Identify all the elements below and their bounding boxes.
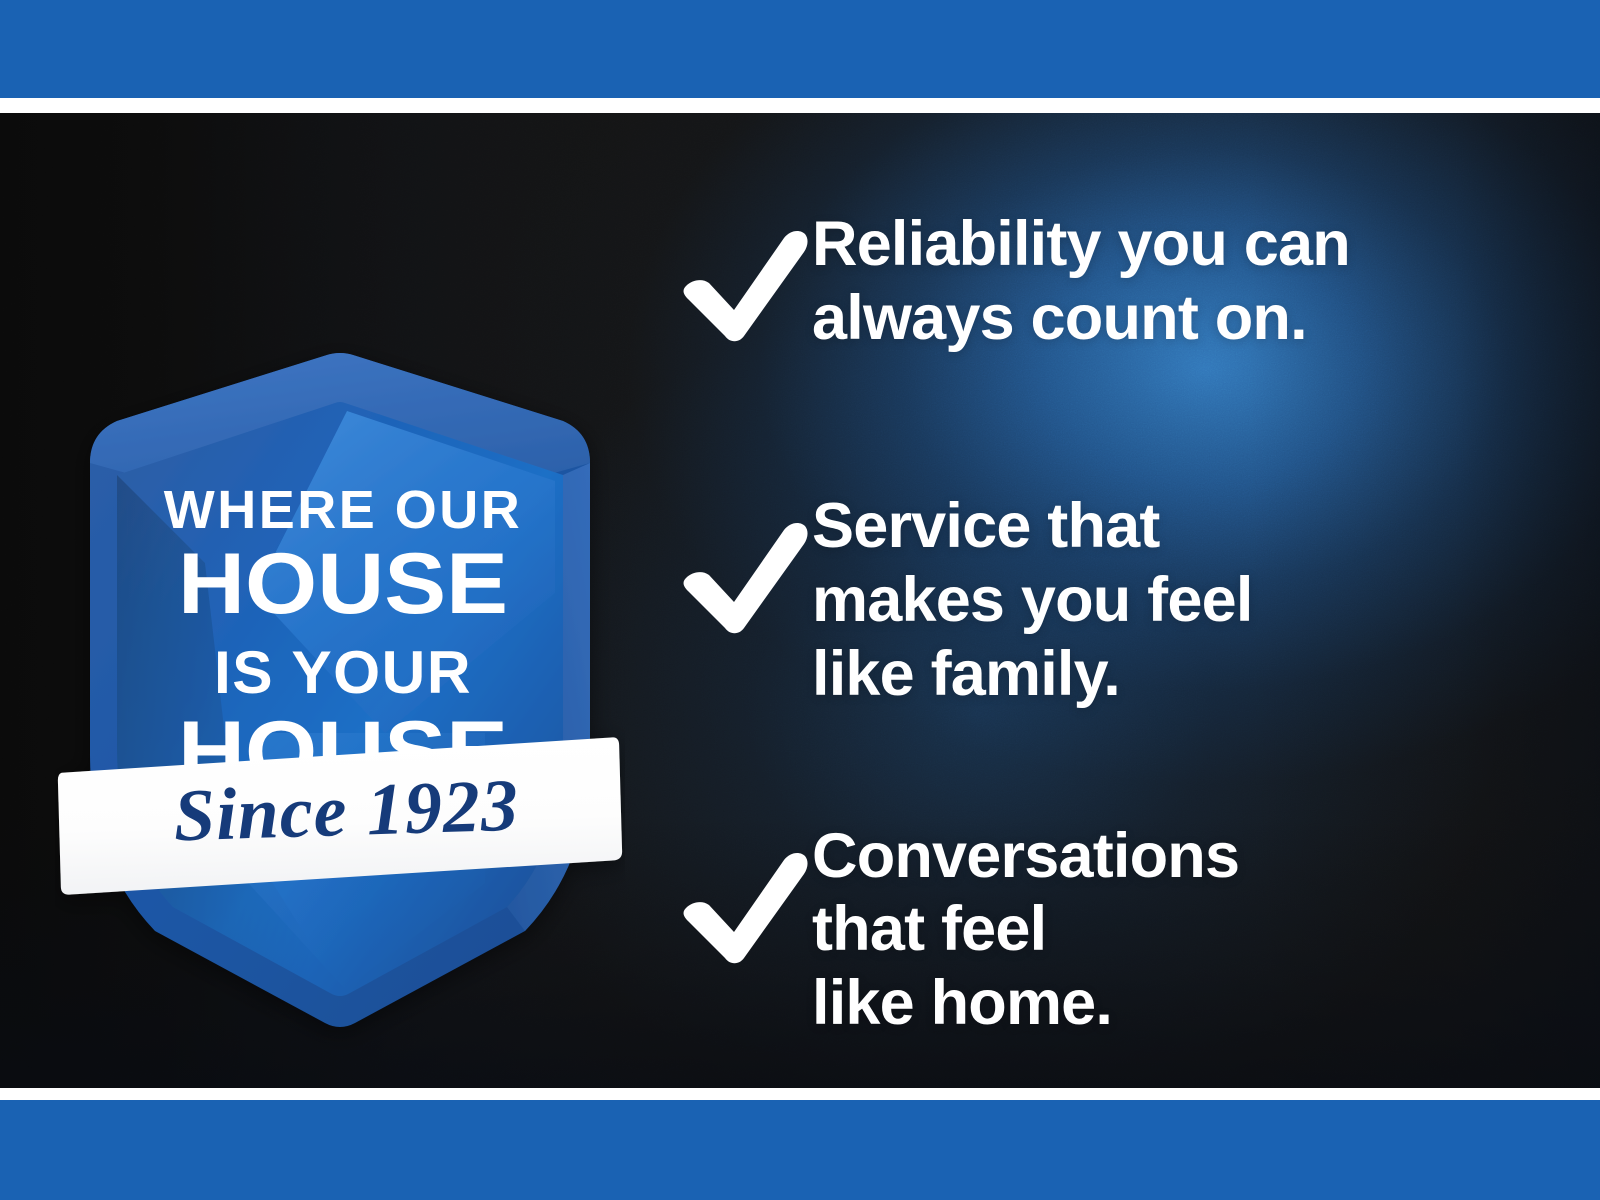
benefit-line: Conversations: [812, 820, 1572, 894]
logo-line-3: IS YOUR: [214, 639, 472, 706]
benefit-line: Reliability you can: [812, 208, 1572, 282]
benefit-item-2: Service that makes you feel like family.: [672, 490, 1572, 711]
checkmark-icon: [672, 516, 812, 636]
logo-line-2: HOUSE: [178, 536, 508, 632]
content-stage: WHERE OUR HOUSE IS YOUR HOUSE Since 1923: [0, 113, 1600, 1088]
benefit-line: Service that: [812, 490, 1572, 564]
top-brand-bar: [0, 0, 1600, 98]
checkmark-icon: [672, 846, 812, 966]
bottom-brand-bar: [0, 1100, 1600, 1200]
benefit-line: like home.: [812, 967, 1572, 1041]
checkmark-icon: [672, 224, 812, 344]
logo-line-1: WHERE OUR: [164, 480, 523, 540]
company-logo: WHERE OUR HOUSE IS YOUR HOUSE Since 1923: [55, 263, 625, 1053]
benefit-line: like family.: [812, 638, 1572, 712]
ribbon-text: Since 1923: [173, 765, 520, 858]
benefit-line: that feel: [812, 893, 1572, 967]
benefit-text-2: Service that makes you feel like family.: [812, 490, 1572, 711]
benefit-text-3: Conversations that feel like home.: [812, 820, 1572, 1041]
benefit-line: makes you feel: [812, 564, 1572, 638]
shield-logo-svg: WHERE OUR HOUSE IS YOUR HOUSE Since 1923: [55, 263, 625, 1053]
benefit-line: always count on.: [812, 282, 1572, 356]
benefit-text-1: Reliability you can always count on.: [812, 208, 1572, 355]
benefit-item-3: Conversations that feel like home.: [672, 820, 1572, 1041]
benefit-item-1: Reliability you can always count on.: [672, 208, 1572, 355]
benefits-list: Reliability you can always count on. Ser…: [672, 208, 1572, 1041]
promo-graphic: WHERE OUR HOUSE IS YOUR HOUSE Since 1923: [0, 0, 1600, 1200]
